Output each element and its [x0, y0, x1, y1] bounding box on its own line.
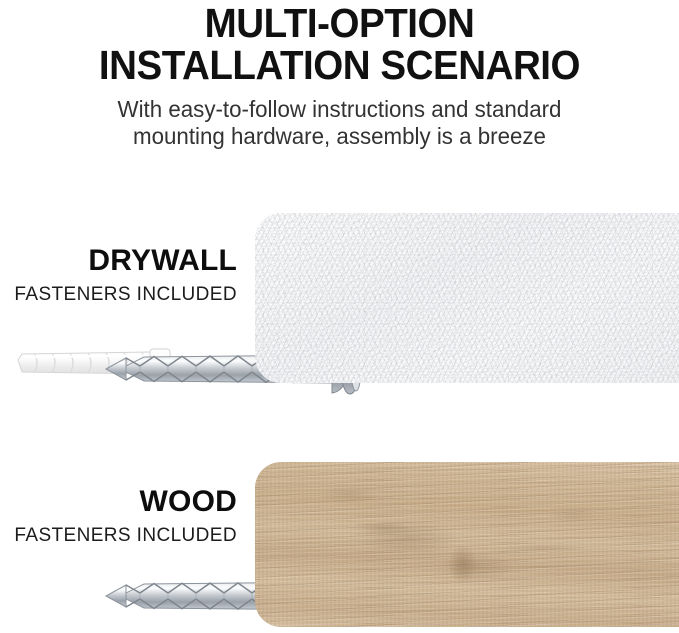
drywall-surface-panel	[255, 213, 679, 383]
wood-fasteners-note: FASTENERS INCLUDED	[0, 518, 237, 547]
wall-anchor-icon	[10, 341, 92, 363]
wood-surface-panel	[255, 462, 679, 627]
drywall-label-group: DRYWALL FASTENERS INCLUDED	[0, 245, 237, 306]
screw-icon	[100, 337, 240, 369]
section-drywall: DRYWALL FASTENERS INCLUDED	[0, 213, 679, 383]
wood-label-group: WOOD FASTENERS INCLUDED	[0, 486, 237, 547]
header-block: MULTI-OPTION INSTALLATION SCENARIO With …	[0, 0, 679, 150]
page-subtitle: With easy-to-follow instructions and sta…	[10, 86, 669, 150]
section-wood: WOOD FASTENERS INCLUDED	[0, 462, 679, 627]
wood-material-name: WOOD	[0, 486, 237, 518]
drywall-material-name: DRYWALL	[0, 245, 237, 277]
drywall-fasteners-note: FASTENERS INCLUDED	[0, 277, 237, 306]
wood-hardware-group	[0, 558, 248, 602]
screw-icon	[100, 564, 240, 596]
drywall-hardware-group	[0, 331, 248, 375]
page-title: MULTI-OPTION INSTALLATION SCENARIO	[20, 0, 658, 86]
